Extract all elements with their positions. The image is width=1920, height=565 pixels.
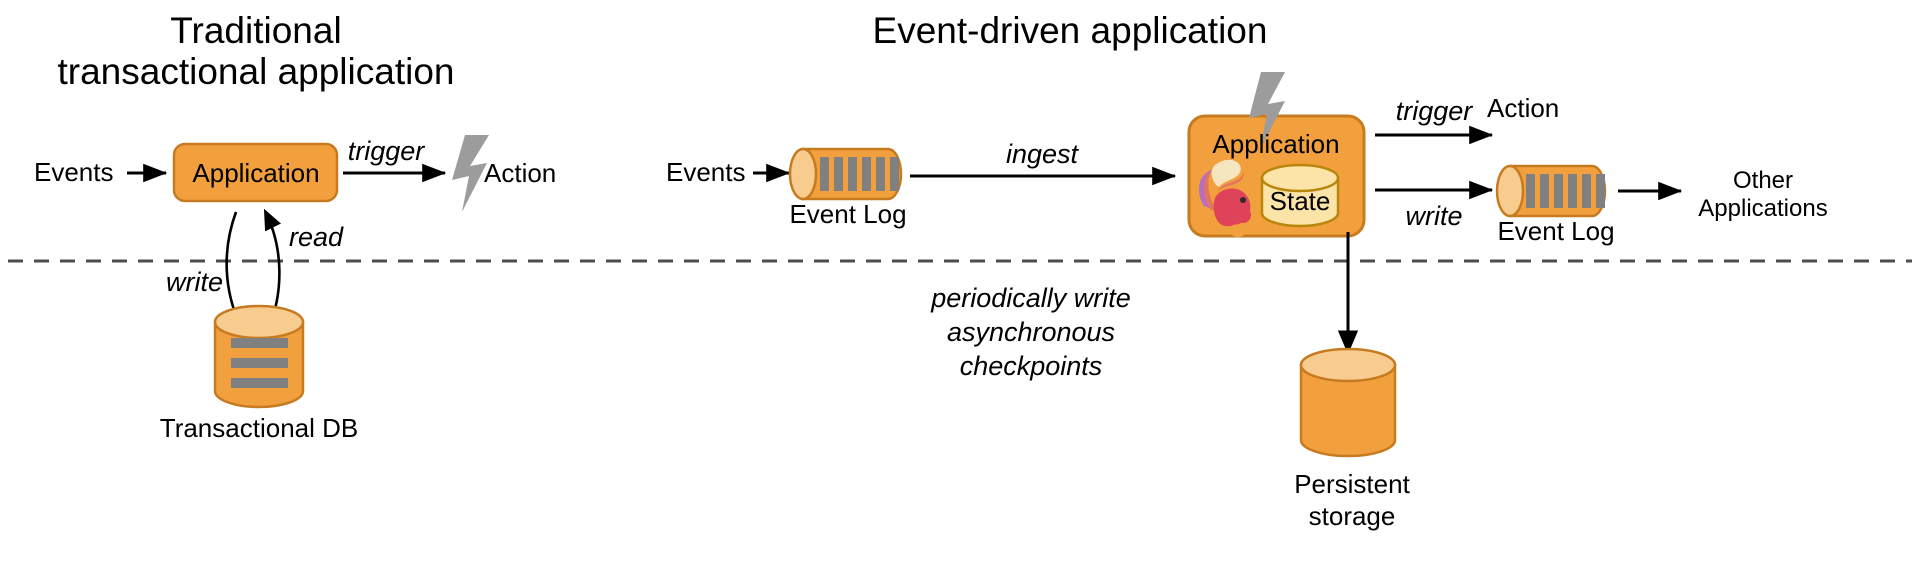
persistent-storage-line1: Persistent bbox=[1294, 470, 1410, 499]
left-panel-title-line1: Traditional bbox=[170, 10, 341, 51]
persistent-storage-line2: storage bbox=[1309, 502, 1396, 531]
event-log-input-label: Event Log bbox=[789, 200, 906, 229]
transactional-db-cylinder bbox=[215, 306, 303, 407]
ingest-label: ingest bbox=[1006, 139, 1078, 169]
event-log-input bbox=[790, 149, 901, 199]
diagram-canvas: Traditional transactional application Ev… bbox=[0, 0, 1920, 565]
left-events-label: Events bbox=[34, 158, 114, 187]
other-applications-line1: Other bbox=[1733, 168, 1793, 195]
right-action-label: Action bbox=[1487, 94, 1559, 123]
left-panel-title-line2: transactional application bbox=[58, 51, 455, 92]
left-application-label: Application bbox=[192, 159, 319, 188]
right-events-label: Events bbox=[666, 158, 746, 187]
checkpoint-text-line2: asynchronous bbox=[947, 317, 1115, 347]
checkpoint-text-line3: checkpoints bbox=[960, 351, 1103, 381]
state-label: State bbox=[1270, 187, 1331, 216]
persistent-storage-cylinder bbox=[1301, 349, 1395, 456]
checkpoint-text-line1: periodically write bbox=[931, 283, 1131, 313]
right-write-label: write bbox=[1405, 201, 1462, 231]
other-applications-line2: Applications bbox=[1698, 196, 1827, 223]
right-panel-title: Event-driven application bbox=[873, 10, 1268, 51]
event-log-output bbox=[1497, 166, 1605, 216]
transactional-db-label: Transactional DB bbox=[160, 414, 358, 443]
right-trigger-label: trigger bbox=[1396, 96, 1473, 126]
read-label: read bbox=[289, 222, 343, 252]
write-label: write bbox=[166, 267, 223, 297]
left-action-label: Action bbox=[484, 159, 556, 188]
right-application-label: Application bbox=[1212, 130, 1339, 159]
left-trigger-label: trigger bbox=[348, 136, 425, 166]
event-log-output-label: Event Log bbox=[1497, 217, 1614, 246]
